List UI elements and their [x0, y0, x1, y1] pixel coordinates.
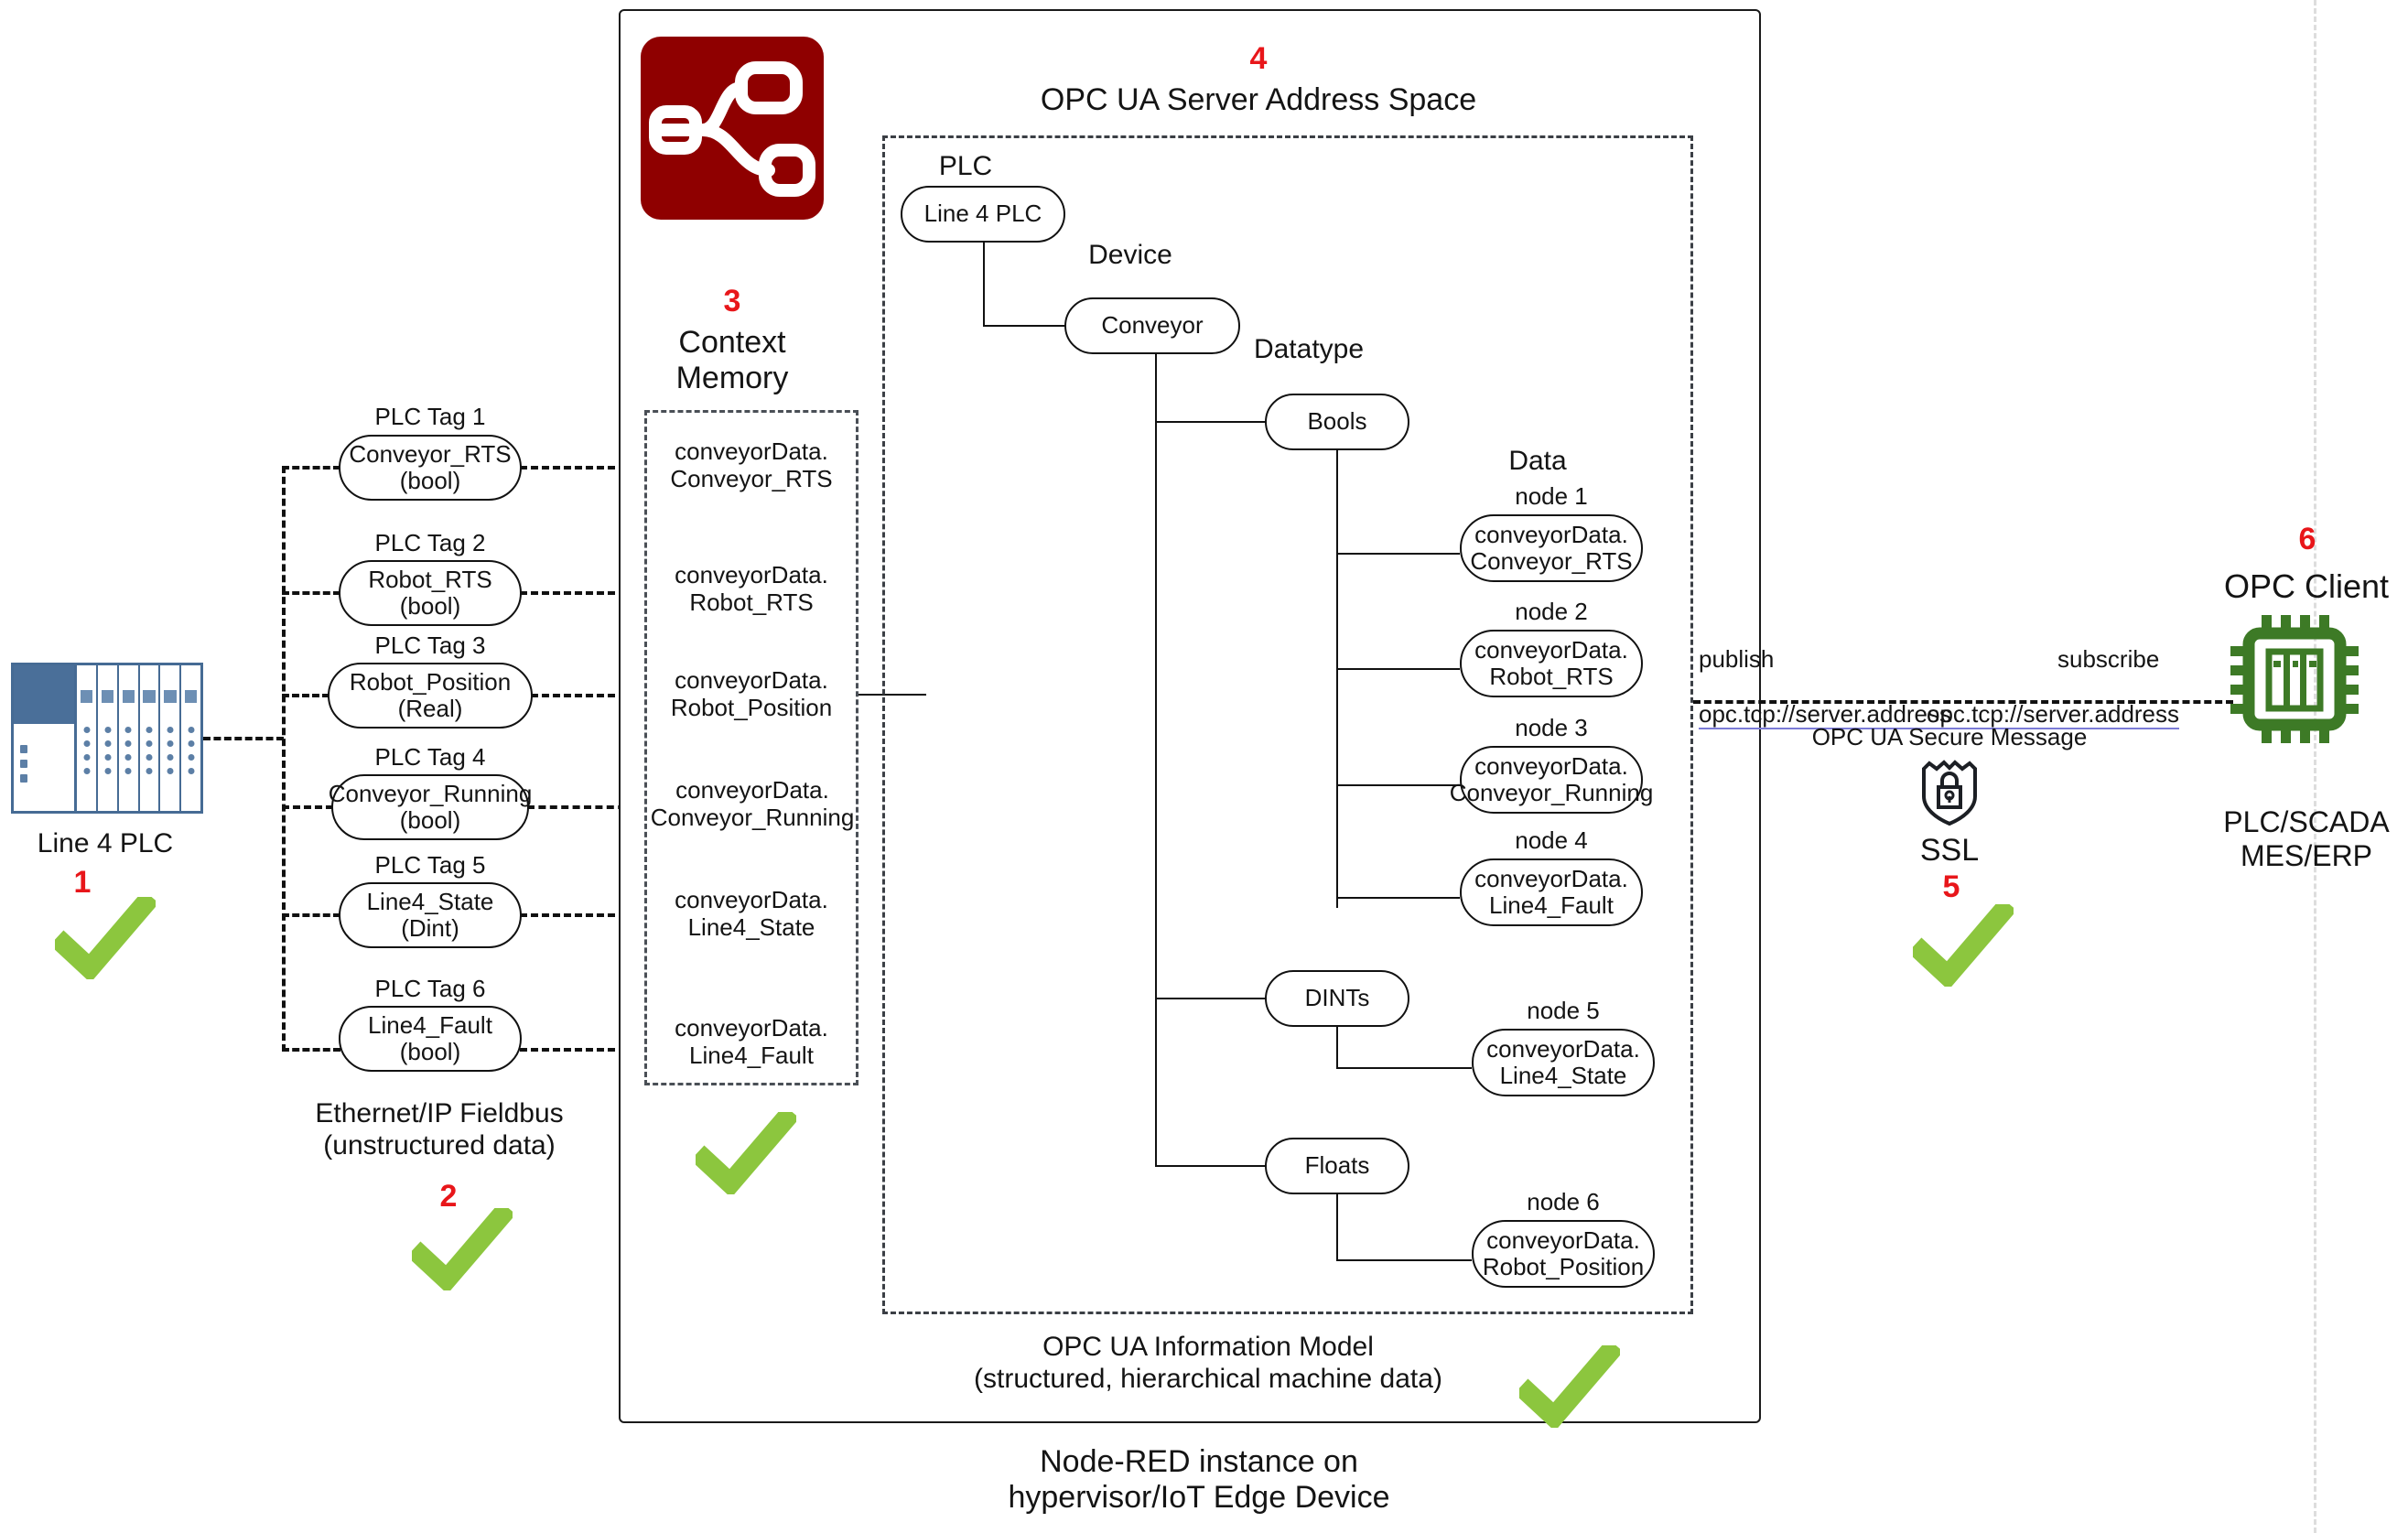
node-red-logo-glyph — [641, 37, 824, 220]
step-number-3: 3 — [714, 284, 750, 319]
fieldbus-branch — [282, 694, 329, 697]
level-caption-data: Data — [1464, 446, 1611, 478]
tree-connector — [1336, 1194, 1338, 1261]
step-number-1: 1 — [64, 865, 101, 901]
data-node-caption: node 6 — [1472, 1188, 1655, 1215]
plc-tag-text: Conveyor_RTS(bool) — [349, 441, 511, 494]
fieldbus-branch — [282, 805, 333, 809]
tree-connector — [1336, 784, 1460, 786]
address-space-data-node[interactable]: conveyorData. Line4_Fault — [1460, 858, 1643, 926]
context-memory-entry: conveyorData. Robot_RTS — [644, 561, 858, 616]
plc-tag-pill[interactable]: Robot_RTS(bool) — [339, 560, 522, 626]
plc-rack-icon — [11, 663, 203, 814]
check-mark-2 — [412, 1208, 513, 1290]
plc-tag-caption: PLC Tag 4 — [319, 743, 542, 771]
plc-tag-text: Line4_State(Dint) — [367, 889, 494, 942]
ssl-label: SSL — [1885, 833, 2014, 869]
address-space-device-node[interactable]: Conveyor — [1064, 297, 1240, 354]
step-number-4: 4 — [1240, 41, 1277, 77]
context-memory-entry: conveyorData. Line4_Fault — [644, 1014, 858, 1069]
step-number-5: 5 — [1933, 869, 1970, 905]
address-space-data-node[interactable]: conveyorData. Robot_RTS — [1460, 630, 1643, 697]
source-plc-label: Line 4 PLC — [0, 828, 211, 860]
plc-tag-text: Robot_RTS(bool) — [368, 567, 491, 620]
fieldbus-link-plc — [203, 737, 284, 740]
address-space-datatype-node[interactable]: DINTs — [1265, 970, 1409, 1027]
tree-connector — [1336, 668, 1460, 670]
address-space-datatype-node[interactable]: Floats — [1265, 1138, 1409, 1194]
address-space-data-node[interactable]: conveyorData. Line4_State — [1472, 1029, 1655, 1096]
plc-tag-pill[interactable]: Line4_Fault(bool) — [339, 1006, 522, 1072]
plc-io-module — [98, 665, 119, 811]
tree-connector — [1336, 1259, 1472, 1261]
tree-connector — [983, 243, 985, 326]
plc-tag-caption: PLC Tag 3 — [328, 632, 533, 659]
subscribe-label: subscribe — [2057, 645, 2204, 673]
data-node-caption: node 1 — [1460, 482, 1643, 510]
edge-device-caption: Node-RED instance on hypervisor/IoT Edge… — [915, 1444, 1483, 1517]
secure-message-label: OPC UA Secure Message — [1785, 723, 2114, 750]
node-label: conveyorData. Line4_Fault — [1474, 866, 1628, 919]
tree-connector — [1155, 421, 1267, 423]
plc-tag-pill[interactable]: Robot_Position(Real) — [328, 663, 533, 729]
tree-connector — [1155, 1165, 1267, 1167]
check-mark-1 — [55, 897, 156, 979]
plc-tag-text: Robot_Position(Real) — [350, 669, 511, 722]
plc-cpu-faceplate — [14, 665, 74, 724]
context-memory-entry: conveyorData. Conveyor_RTS — [644, 437, 858, 492]
plc-io-module — [140, 665, 161, 811]
fieldbus-branch — [282, 1048, 340, 1052]
fieldbus-branch — [282, 591, 340, 595]
data-node-caption: node 5 — [1472, 997, 1655, 1024]
data-node-caption: node 3 — [1460, 714, 1643, 741]
plc-cpu-leds — [20, 745, 27, 789]
address-space-datatype-node[interactable]: Bools — [1265, 394, 1409, 450]
tree-connector — [1336, 897, 1460, 899]
plc-cpu-module — [14, 665, 77, 811]
node-label: Floats — [1305, 1152, 1370, 1179]
data-node-caption: node 2 — [1460, 598, 1643, 625]
context-memory-entry: conveyorData. Line4_State — [644, 886, 858, 941]
plc-tag-caption: PLC Tag 2 — [339, 529, 522, 556]
plc-io-module — [119, 665, 140, 811]
tree-connector — [1336, 553, 1460, 555]
opc-client-subtitle: PLC/SCADA MES/ERP — [2169, 805, 2408, 873]
node-label: conveyorData. Conveyor_RTS — [1470, 522, 1632, 575]
page-right-divider — [2314, 0, 2316, 1533]
plc-tag-caption: PLC Tag 5 — [339, 851, 522, 879]
plc-tag-caption: PLC Tag 1 — [339, 403, 522, 430]
context-memory-title: Context Memory — [632, 325, 833, 397]
plc-io-module — [160, 665, 181, 811]
node-label: Bools — [1307, 408, 1366, 435]
context-memory-entry: conveyorData. Robot_Position — [644, 666, 858, 721]
node-label: conveyorData. Line4_State — [1486, 1036, 1640, 1089]
level-caption-device: Device — [1057, 240, 1204, 272]
node-label: conveyorData. Conveyor_Running — [1450, 753, 1654, 806]
tree-connector — [1155, 354, 1157, 1166]
opc-client-title: OPC Client — [2169, 567, 2408, 606]
step-number-6: 6 — [2289, 522, 2326, 557]
publish-label: publish — [1699, 645, 1827, 673]
plc-tag-text: Line4_Fault(bool) — [368, 1012, 492, 1065]
node-red-logo — [641, 37, 824, 220]
plc-tag-text: Conveyor_Running(bool) — [329, 781, 533, 834]
shield-lock-icon — [1918, 756, 1981, 827]
fieldbus-branch — [282, 466, 340, 470]
context-memory-entry: conveyorData. Conveyor_Running — [641, 776, 864, 831]
node-label: conveyorData. Robot_Position — [1483, 1227, 1644, 1280]
information-model-caption: OPC UA Information Model (structured, hi… — [915, 1332, 1501, 1396]
node-label: Line 4 PLC — [924, 200, 1042, 227]
address-space-data-node[interactable]: conveyorData. Robot_Position — [1472, 1220, 1655, 1288]
plc-io-module — [181, 665, 200, 811]
context-memory-box — [644, 410, 858, 1085]
check-mark-3 — [696, 1112, 796, 1194]
fieldbus-branch — [282, 913, 340, 917]
level-caption-plc: PLC — [906, 151, 1025, 183]
address-space-data-node[interactable]: conveyorData. Conveyor_RTS — [1460, 514, 1643, 582]
address-space-plc-node[interactable]: Line 4 PLC — [901, 186, 1065, 243]
level-caption-datatype: Datatype — [1226, 334, 1391, 366]
address-space-title: OPC UA Server Address Space — [915, 82, 1602, 118]
plc-tag-pill[interactable]: Conveyor_Running(bool) — [331, 774, 529, 840]
tree-connector — [1155, 998, 1267, 999]
check-mark-4 — [1519, 1345, 1620, 1428]
plc-io-module — [77, 665, 98, 811]
node-label: DINTs — [1305, 985, 1370, 1011]
plc-tag-pill[interactable]: Line4_State(Dint) — [339, 882, 522, 948]
node-label: conveyorData. Robot_RTS — [1474, 637, 1628, 690]
tree-connector — [1336, 1027, 1338, 1069]
check-mark-5 — [1913, 904, 2014, 987]
plc-tag-caption: PLC Tag 6 — [339, 975, 522, 1002]
cpu-chip-icon — [2230, 615, 2359, 743]
plc-tag-pill[interactable]: Conveyor_RTS(bool) — [339, 435, 522, 501]
node-label: Conveyor — [1101, 312, 1203, 339]
fieldbus-label: Ethernet/IP Fieldbus (unstructured data) — [275, 1098, 604, 1162]
tree-connector — [1336, 1067, 1472, 1069]
address-space-data-node[interactable]: conveyorData. Conveyor_Running — [1460, 746, 1643, 814]
tree-connector — [1336, 450, 1338, 908]
tree-connector — [983, 325, 1066, 327]
data-node-caption: node 4 — [1460, 826, 1643, 854]
fieldbus-trunk — [282, 466, 286, 1052]
